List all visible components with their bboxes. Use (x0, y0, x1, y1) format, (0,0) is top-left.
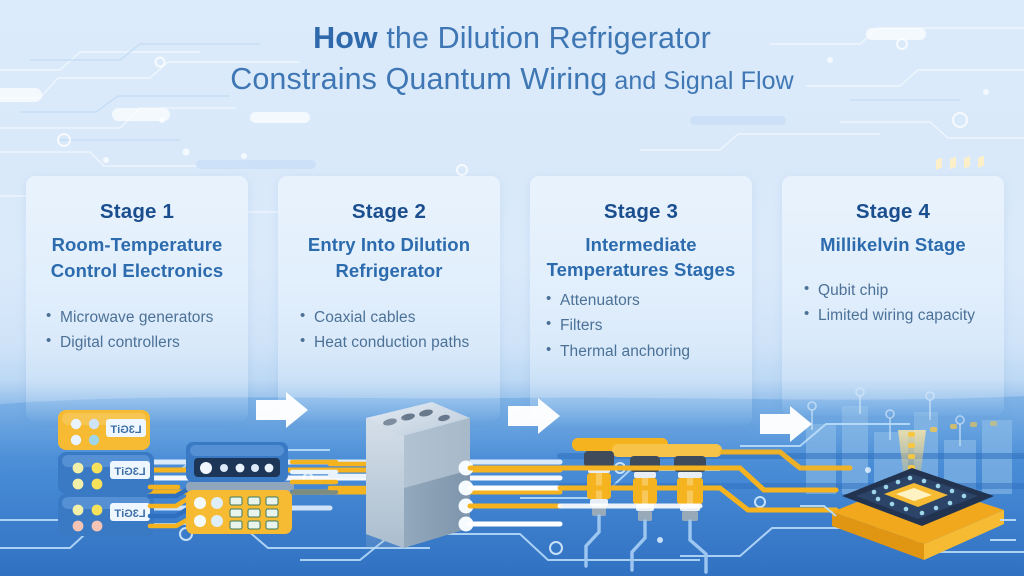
arrow-right-icon-2 (508, 398, 560, 434)
arrow-right-icon-3 (760, 406, 812, 442)
svg-text:L3GiT: L3GiT (114, 508, 145, 520)
svg-text:L3GiT: L3GiT (110, 424, 141, 436)
process-arrows (256, 392, 812, 442)
stage-1-equipment-illustration: L3GiT L3GiT L3GiT (58, 410, 336, 536)
stage-4-qubit-chip-illustration (800, 155, 1016, 576)
stage-illustration-scene: L3GiT L3GiT L3GiT (0, 0, 1024, 576)
infographic-canvas: How the Dilution Refrigerator Constrains… (0, 0, 1024, 576)
arrow-right-icon-1 (256, 392, 308, 428)
svg-text:L3GiT: L3GiT (114, 466, 145, 478)
